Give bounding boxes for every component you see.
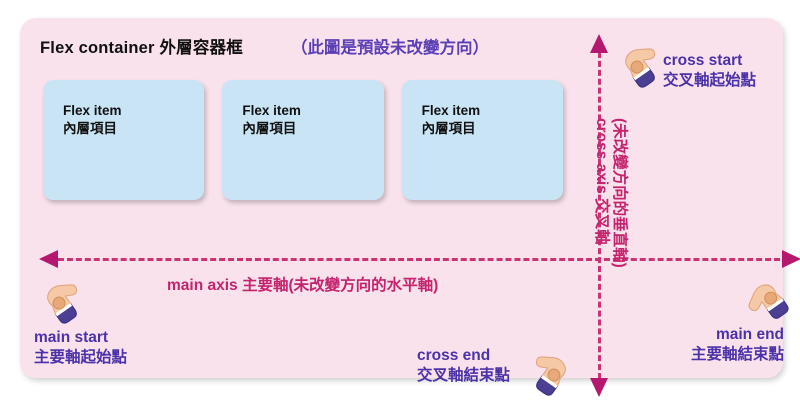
marker-cross-end: cross end 交叉軸結束點 xyxy=(417,346,510,386)
flex-container-title: Flex container 外層容器框 xyxy=(40,34,243,58)
pointing-hand-icon xyxy=(525,348,579,400)
arrow-down-icon xyxy=(590,378,608,397)
arrow-left-icon xyxy=(39,250,58,268)
flexbox-axes-diagram: Flex container 外層容器框 （此圖是預設未改變方向） Flex i… xyxy=(0,0,800,400)
marker-main-end-zh: 主要軸結束點 xyxy=(691,345,784,365)
pointing-hand-icon xyxy=(743,273,797,327)
pointing-hand-icon xyxy=(612,40,666,94)
marker-cross-start: cross start 交叉軸起始點 xyxy=(663,51,756,91)
marker-cross-start-zh: 交叉軸起始點 xyxy=(663,71,756,91)
pointing-hand-icon xyxy=(34,276,88,330)
cross-axis-label-secondary: (未改變方向的垂直軸) xyxy=(610,118,632,268)
flex-container-box: Flex container 外層容器框 （此圖是預設未改變方向） Flex i… xyxy=(20,18,783,378)
marker-cross-end-en: cross end xyxy=(417,346,510,366)
marker-main-end: main end 主要軸結束點 xyxy=(691,325,784,365)
flex-item-label-zh: 內層項目 xyxy=(63,120,204,138)
flex-container-note: （此圖是預設未改變方向） xyxy=(291,34,489,58)
main-axis-label: main axis 主要軸(未改變方向的水平軸) xyxy=(167,273,438,295)
arrow-up-icon xyxy=(590,34,608,53)
flex-item: Flex item 內層項目 xyxy=(402,80,563,200)
marker-cross-start-en: cross start xyxy=(663,51,756,71)
flex-item-label-en: Flex item xyxy=(63,102,204,120)
marker-main-end-en: main end xyxy=(691,325,784,345)
arrow-right-icon xyxy=(782,250,800,268)
flex-item-label-en: Flex item xyxy=(242,102,383,120)
flex-item-label-zh: 內層項目 xyxy=(422,120,563,138)
flex-item: Flex item 內層項目 xyxy=(43,80,204,200)
flex-item-label-en: Flex item xyxy=(422,102,563,120)
marker-main-start-en: main start xyxy=(34,328,127,348)
flex-items-row: Flex item 內層項目 Flex item 內層項目 Flex item … xyxy=(43,80,563,200)
marker-cross-end-zh: 交叉軸結束點 xyxy=(417,366,510,386)
flex-item: Flex item 內層項目 xyxy=(222,80,383,200)
marker-main-start-zh: 主要軸起始點 xyxy=(34,348,127,368)
marker-main-start: main start 主要軸起始點 xyxy=(34,328,127,368)
main-axis-line xyxy=(58,258,780,261)
flex-item-label-zh: 內層項目 xyxy=(242,120,383,138)
